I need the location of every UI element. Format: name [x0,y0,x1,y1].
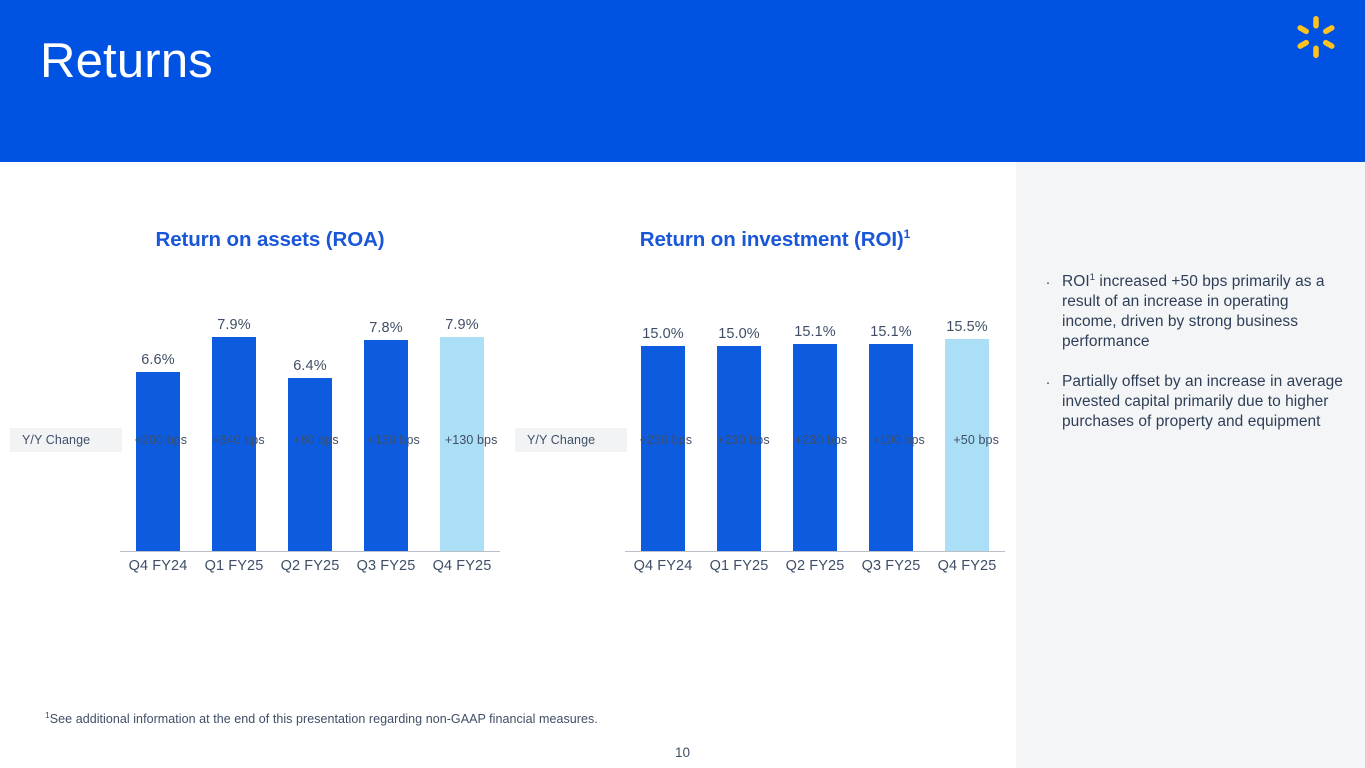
commentary-sidebar: · ROI1 increased +50 bps primarily as a … [1016,162,1365,768]
chart-title-superscript: 1 [904,227,911,241]
category-label: Q1 FY25 [701,558,777,584]
bar-series-roi: 15.0%15.0%15.1%15.1%15.5% [625,271,1005,551]
bar-group: 7.9% [196,271,272,551]
yy-change-value: +50 bps [937,433,1015,447]
category-label: Q4 FY24 [120,558,196,584]
bar-value-label: 6.6% [120,352,196,368]
footnote: 1See additional information at the end o… [45,712,598,726]
bar-group: 15.0% [625,271,701,551]
bar-group: 6.4% [272,271,348,551]
yy-change-value: +230 bps [782,433,860,447]
bullet-text: Partially offset by an increase in avera… [1062,372,1347,432]
bullet-prefix: ROI [1062,273,1090,290]
category-label: Q4 FY25 [929,558,1005,584]
slide-header: Returns [0,0,1365,162]
chart-title-roa: Return on assets (ROA) [0,228,540,252]
bar-group: 15.0% [701,271,777,551]
category-axis-roi: Q4 FY24Q1 FY25Q2 FY25Q3 FY25Q4 FY25 [625,558,1005,584]
bar-value-label: 15.5% [929,319,1005,335]
chart-panel-roi: Return on investment (ROI)1 15.0%15.0%15… [505,162,1045,768]
page-number: 10 [0,745,1365,760]
x-axis-line [625,551,1005,553]
yy-change-label: Y/Y Change [515,428,627,452]
yy-change-value: +80 bps [277,433,355,447]
bar-value-label: 15.0% [625,326,701,342]
category-axis-roa: Q4 FY24Q1 FY25Q2 FY25Q3 FY25Q4 FY25 [120,558,500,584]
bar-value-label: 6.4% [272,358,348,374]
category-label: Q2 FY25 [777,558,853,584]
yy-change-value: +200 bps [122,433,200,447]
bar-group: 15.1% [853,271,929,551]
bar [288,378,332,551]
category-label: Q4 FY24 [625,558,701,584]
yy-change-values-roa: +200 bps+340 bps+80 bps+130 bps+130 bps [122,433,510,447]
bar-value-label: 7.9% [424,317,500,333]
yy-change-value: +100 bps [860,433,938,447]
bullet-body: increased +50 bps primarily as a result … [1062,273,1325,350]
yy-change-value: +130 bps [432,433,510,447]
bullet-marker-icon: · [1044,372,1052,432]
bullet-text: ROI1 increased +50 bps primarily as a re… [1062,272,1347,352]
walmart-spark-logo [1291,12,1341,62]
list-item: · ROI1 increased +50 bps primarily as a … [1044,272,1347,352]
bar-value-label: 15.0% [701,326,777,342]
plot-area-roa: 6.6%7.9%6.4%7.8%7.9% [120,270,500,552]
bar-value-label: 7.9% [196,317,272,333]
bar-group: 7.8% [348,271,424,551]
yy-change-values-roi: +230 bps+230 bps+230 bps+100 bps+50 bps [627,433,1015,447]
bar-value-label: 7.8% [348,320,424,336]
bar-series-roa: 6.6%7.9%6.4%7.8%7.9% [120,271,500,551]
yy-change-label: Y/Y Change [10,428,122,452]
bullet-body: Partially offset by an increase in avera… [1062,373,1343,430]
plot-area-roi: 15.0%15.0%15.1%15.1%15.5% [625,270,1005,552]
bar-group: 6.6% [120,271,196,551]
bar-group: 7.9% [424,271,500,551]
yy-change-value: +230 bps [627,433,705,447]
yy-change-value: +340 bps [200,433,278,447]
bullet-list: · ROI1 increased +50 bps primarily as a … [1044,272,1347,452]
yy-change-value: +130 bps [355,433,433,447]
yy-change-row-roa: Y/Y Change +200 bps+340 bps+80 bps+130 b… [10,428,510,452]
bullet-marker-icon: · [1044,272,1052,352]
bar-group: 15.5% [929,271,1005,551]
slide-returns: Returns · ROI1 increased +50 bps primari… [0,0,1365,768]
category-label: Q2 FY25 [272,558,348,584]
category-label: Q3 FY25 [348,558,424,584]
chart-title-roi: Return on investment (ROI)1 [505,228,1045,252]
page-title: Returns [40,30,213,92]
bar [136,372,180,550]
bar-value-label: 15.1% [853,324,929,340]
category-label: Q1 FY25 [196,558,272,584]
footnote-text: See additional information at the end of… [50,712,598,726]
list-item: · Partially offset by an increase in ave… [1044,372,1347,432]
chart-title-text: Return on investment (ROI) [640,228,904,251]
yy-change-row-roi: Y/Y Change +230 bps+230 bps+230 bps+100 … [515,428,1015,452]
category-label: Q3 FY25 [853,558,929,584]
category-label: Q4 FY25 [424,558,500,584]
x-axis-line [120,551,500,553]
bar-value-label: 15.1% [777,324,853,340]
chart-panel-roa: Return on assets (ROA) 6.6%7.9%6.4%7.8%7… [0,162,540,768]
bar-group: 15.1% [777,271,853,551]
yy-change-value: +230 bps [705,433,783,447]
chart-title-text: Return on assets (ROA) [155,228,384,251]
